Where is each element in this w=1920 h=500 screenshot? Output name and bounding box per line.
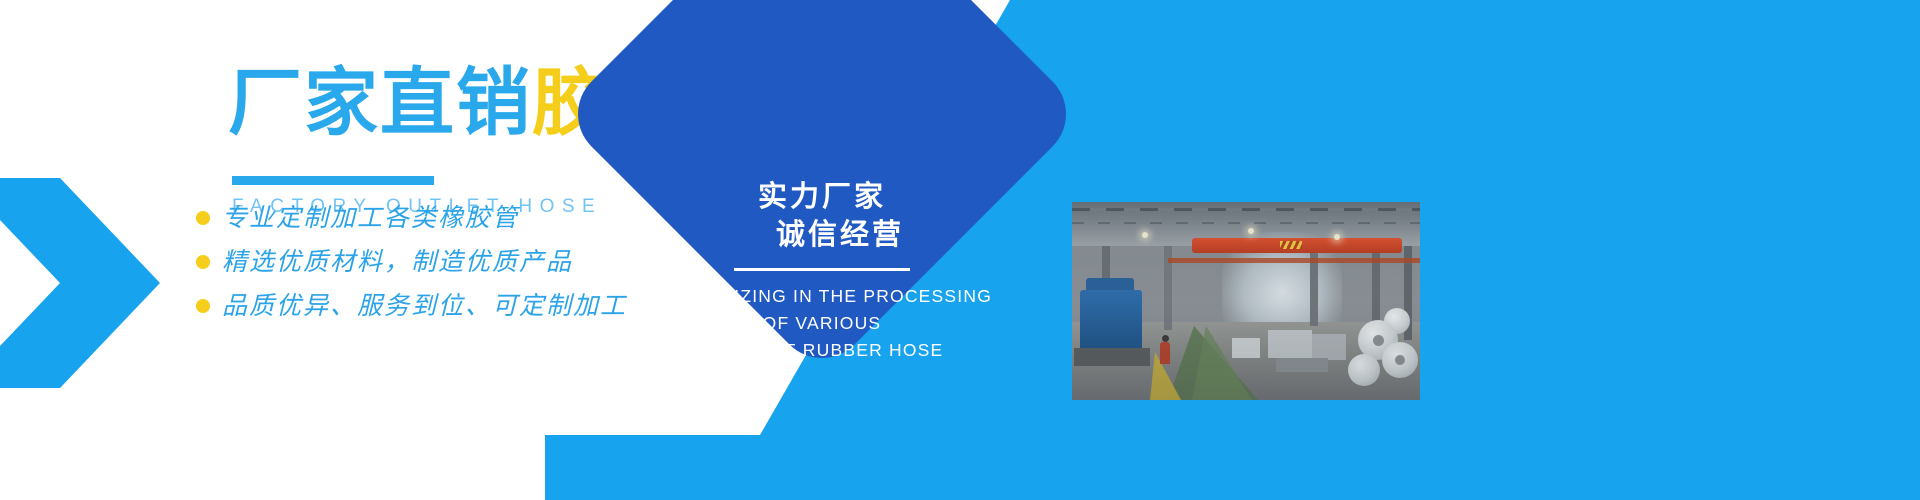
list-item-label: 品质优异、服务到位、可定制加工 (222, 292, 627, 320)
list-item-label: 精选优质材料，制造优质产品 (222, 248, 573, 276)
badge-en-line-2: OF VARIOUS (652, 310, 992, 337)
factory-photo (1072, 202, 1420, 400)
title-divider (232, 176, 434, 185)
badge-chinese-heading: 实力厂家 诚信经营 (740, 178, 904, 255)
list-item-label: 专业定制加工各类橡胶管 (222, 204, 519, 232)
headline-blue-segment: 厂家直销 (228, 61, 532, 144)
left-copy-block: 厂家直销胶管 FACTORY OUTLET HOSE 专业定制加工各类橡胶管 精… (0, 0, 680, 500)
badge-cn-line-2: 诚信经营 (740, 216, 904, 254)
badge-divider (734, 268, 910, 271)
bullet-dot-icon (196, 211, 210, 225)
diamond-badge: 实力厂家 诚信经营 SPECIALIZING IN THE PROCESSING… (636, 0, 1008, 300)
badge-english-text: SPECIALIZING IN THE PROCESSING OF VARIOU… (652, 283, 992, 364)
promotional-banner: 厂家直销胶管 FACTORY OUTLET HOSE 专业定制加工各类橡胶管 精… (0, 0, 1920, 500)
bullet-dot-icon (196, 299, 210, 313)
badge-cn-line-1: 实力厂家 (758, 181, 886, 213)
bullet-dot-icon (196, 255, 210, 269)
photo-color-tint (1072, 202, 1420, 400)
badge-en-line-1: SPECIALIZING IN THE PROCESSING (652, 283, 992, 310)
badge-en-line-3: TYPES OF RUBBER HOSE (652, 337, 992, 364)
diamond-badge-content: 实力厂家 诚信经营 SPECIALIZING IN THE PROCESSING… (636, 4, 1008, 376)
